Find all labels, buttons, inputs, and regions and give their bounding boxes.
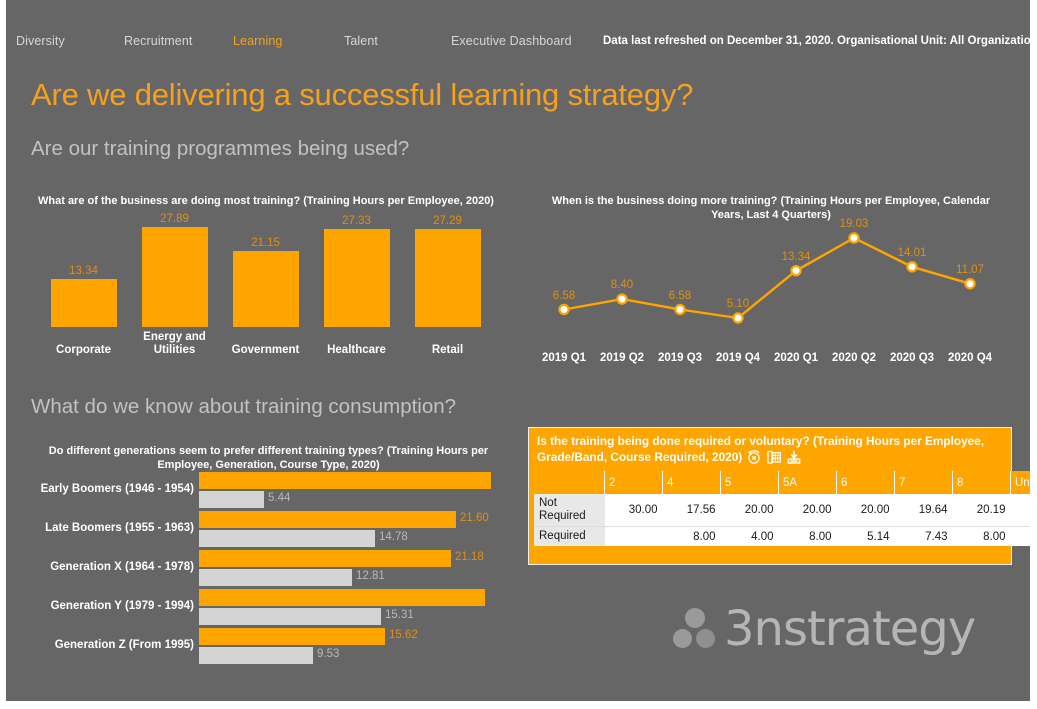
table-column-header[interactable]: 2	[605, 471, 663, 494]
line-data-point[interactable]	[733, 313, 742, 322]
table-column-header[interactable]: Unallocated	[1011, 471, 1031, 494]
bar-orange[interactable]	[199, 472, 491, 489]
line-category-label: 2020 Q3	[890, 352, 934, 364]
line-category-label: 2019 Q1	[542, 352, 586, 364]
bar-value-label: 27.29	[433, 215, 462, 227]
line-category-label: 2020 Q4	[948, 352, 992, 364]
bar-gray[interactable]	[199, 569, 352, 586]
table-required-voluntary: 2455A678Unallocated Not Required30.0017.…	[534, 471, 1030, 546]
bar-value-label: 27.89	[160, 213, 189, 225]
line-value-label: 8.40	[611, 279, 633, 291]
table-cell: 20.00	[721, 494, 779, 527]
top-navigation: Diversity Recruitment Learning Talent Ex…	[6, 32, 1030, 56]
table-column-header[interactable]: 7	[895, 471, 953, 494]
table-cell: 19.64	[895, 494, 953, 527]
bar-orange[interactable]	[199, 550, 451, 567]
page-title: Are we delivering a successful learning …	[31, 77, 693, 113]
table-row-header: Not Required	[534, 494, 605, 527]
bar-gray[interactable]	[199, 530, 375, 547]
table-cell: 4.00	[721, 527, 779, 547]
section-heading-usage: Are our training programmes being used?	[31, 137, 409, 161]
bar-value-label-orange: 21.18	[455, 551, 484, 563]
bar-category-label: Generation X (1964 - 1978)	[26, 561, 194, 573]
bar-group[interactable]: 27.29Retail	[406, 214, 489, 354]
revert-filter-icon[interactable]	[746, 449, 762, 465]
bar-gray[interactable]	[199, 491, 264, 508]
nav-tab-executive-dashboard[interactable]: Executive Dashboard	[451, 32, 572, 50]
line-value-label: 14.01	[898, 247, 927, 259]
logo-dots-icon	[672, 606, 718, 652]
table-cell: 5.14	[837, 527, 895, 547]
table-cell: 8.00	[663, 527, 721, 547]
table-header-row: 2455A678Unallocated	[534, 471, 1030, 494]
bar-category-label: Early Boomers (1946 - 1954)	[26, 483, 194, 495]
line-value-label: 6.58	[669, 290, 691, 302]
bar-group[interactable]: 27.89Energy and Utilities	[133, 214, 216, 354]
bar[interactable]	[324, 229, 390, 327]
bar[interactable]	[142, 227, 208, 327]
bar-row: Generation X (1964 - 1978)21.1812.81	[26, 550, 516, 590]
table-row-header: Required	[534, 527, 605, 547]
bar-row: Generation Z (From 1995)15.629.53	[26, 628, 516, 668]
bar-orange[interactable]	[199, 511, 456, 528]
bar-value-label: 21.15	[251, 237, 280, 249]
bar-group[interactable]: 13.34Corporate	[42, 214, 125, 354]
table-icon-group	[746, 449, 802, 465]
nav-tab-diversity[interactable]: Diversity	[16, 32, 65, 50]
dashboard-root: Diversity Recruitment Learning Talent Ex…	[0, 0, 1037, 709]
table-column-header[interactable]: 5A	[779, 471, 837, 494]
table-title: Is the training being done required or v…	[537, 433, 989, 465]
table-column-header[interactable]: 4	[663, 471, 721, 494]
line-data-point[interactable]	[965, 279, 974, 288]
bar-category-label: Late Boomers (1955 - 1963)	[26, 522, 194, 534]
table-panel-required-voluntary: Is the training being done required or v…	[528, 427, 1012, 565]
table-cell: 14.56	[1011, 494, 1031, 527]
brand-logo: 3nstrategy	[672, 605, 975, 653]
table-cell	[605, 527, 663, 547]
generation-chart-title: Do different generations seem to prefer …	[41, 444, 496, 472]
bar-chart-title: What are of the business are doing most …	[26, 194, 506, 208]
nav-tab-recruitment[interactable]: Recruitment	[124, 32, 192, 50]
nav-tab-talent[interactable]: Talent	[344, 32, 378, 50]
bar-category-label: Energy and Utilities	[132, 331, 218, 357]
line-value-label: 6.58	[553, 290, 575, 302]
bar-category-label: Healthcare	[314, 344, 400, 357]
bar-row: Generation Y (1979 - 1994)15.31	[26, 589, 516, 629]
table-body: Not Required30.0017.5620.0020.0020.0019.…	[534, 494, 1030, 546]
line-data-point[interactable]	[559, 305, 568, 314]
bar[interactable]	[51, 279, 117, 327]
table-cell: 8.00	[779, 527, 837, 547]
table-cell: 20.00	[779, 494, 837, 527]
logo-text: 3nstrategy	[724, 605, 975, 653]
view-data-icon[interactable]	[766, 449, 782, 465]
bar-category-label: Generation Z (From 1995)	[26, 639, 194, 651]
line-category-label: 2019 Q3	[658, 352, 702, 364]
table-cell: 7.43	[895, 527, 953, 547]
table-cell: 20.00	[837, 494, 895, 527]
bar[interactable]	[233, 251, 299, 327]
bar-value-label-gray: 5.44	[268, 492, 290, 504]
line-chart-svg	[526, 214, 1026, 334]
bar-value-label-gray: 15.31	[385, 609, 414, 621]
bar-gray[interactable]	[199, 647, 313, 664]
line-data-point[interactable]	[791, 266, 800, 275]
dashboard-canvas: Diversity Recruitment Learning Talent Ex…	[6, 0, 1030, 701]
line-category-label: 2020 Q1	[774, 352, 818, 364]
line-chart-quarterly-training: 6.582019 Q18.402019 Q26.582019 Q35.10201…	[526, 214, 1026, 364]
bar-value-label-orange: 15.62	[389, 629, 418, 641]
bar-chart-business-area: 13.34Corporate27.89Energy and Utilities2…	[26, 214, 506, 354]
bar-orange[interactable]	[199, 628, 385, 645]
bar[interactable]	[415, 229, 481, 327]
table-column-header[interactable]	[534, 471, 605, 494]
table-cell: 30.00	[605, 494, 663, 527]
bar-category-label: Corporate	[41, 344, 127, 357]
line-value-label: 13.34	[782, 251, 811, 263]
bar-category-label: Generation Y (1979 - 1994)	[26, 600, 194, 612]
data-refresh-note: Data last refreshed on December 31, 2020…	[603, 32, 1030, 50]
bar-orange[interactable]	[199, 589, 485, 606]
line-data-point[interactable]	[617, 294, 626, 303]
table-head: 2455A678Unallocated	[534, 471, 1030, 494]
bar-group[interactable]: 21.15Government	[224, 214, 307, 354]
table-column-header[interactable]: 8	[953, 471, 1011, 494]
bar-chart-generation-course-type: Early Boomers (1946 - 1954)5.44Late Boom…	[26, 472, 516, 672]
table-cell: 5.99	[1011, 527, 1031, 547]
table-cell: 8.00	[953, 527, 1011, 547]
line-category-label: 2019 Q2	[600, 352, 644, 364]
line-value-label: 5.10	[727, 298, 749, 310]
bar-value-label: 27.33	[342, 215, 371, 227]
table-column-header[interactable]: 6	[837, 471, 895, 494]
line-value-label: 11.07	[956, 264, 984, 276]
bar-category-label: Government	[223, 344, 309, 357]
line-category-label: 2020 Q2	[832, 352, 876, 364]
download-icon[interactable]	[786, 449, 802, 465]
bar-category-label: Retail	[405, 344, 491, 357]
bar-value-label-gray: 14.78	[379, 531, 408, 543]
line-value-label: 19.03	[840, 218, 869, 230]
table-row: Not Required30.0017.5620.0020.0020.0019.…	[534, 494, 1030, 527]
line-data-point[interactable]	[675, 305, 684, 314]
table-cell: 20.19	[953, 494, 1011, 527]
table-column-header[interactable]: 5	[721, 471, 779, 494]
bar-value-label-gray: 12.81	[356, 570, 385, 582]
bar-value-label: 13.34	[69, 265, 98, 277]
bar-gray[interactable]	[199, 608, 381, 625]
line-category-label: 2019 Q4	[716, 352, 760, 364]
line-data-point[interactable]	[907, 262, 916, 271]
section-heading-consumption: What do we know about training consumpti…	[31, 395, 456, 419]
line-data-point[interactable]	[849, 233, 858, 242]
bar-group[interactable]: 27.33Healthcare	[315, 214, 398, 354]
bar-value-label-orange: 21.60	[460, 512, 489, 524]
bar-row: Early Boomers (1946 - 1954)5.44	[26, 472, 516, 512]
table-cell: 17.56	[663, 494, 721, 527]
bar-value-label-gray: 9.53	[317, 648, 339, 660]
table-row: Required8.004.008.005.147.438.005.99	[534, 527, 1030, 547]
nav-tab-learning[interactable]: Learning	[233, 32, 282, 50]
bar-row: Late Boomers (1955 - 1963)21.6014.78	[26, 511, 516, 551]
